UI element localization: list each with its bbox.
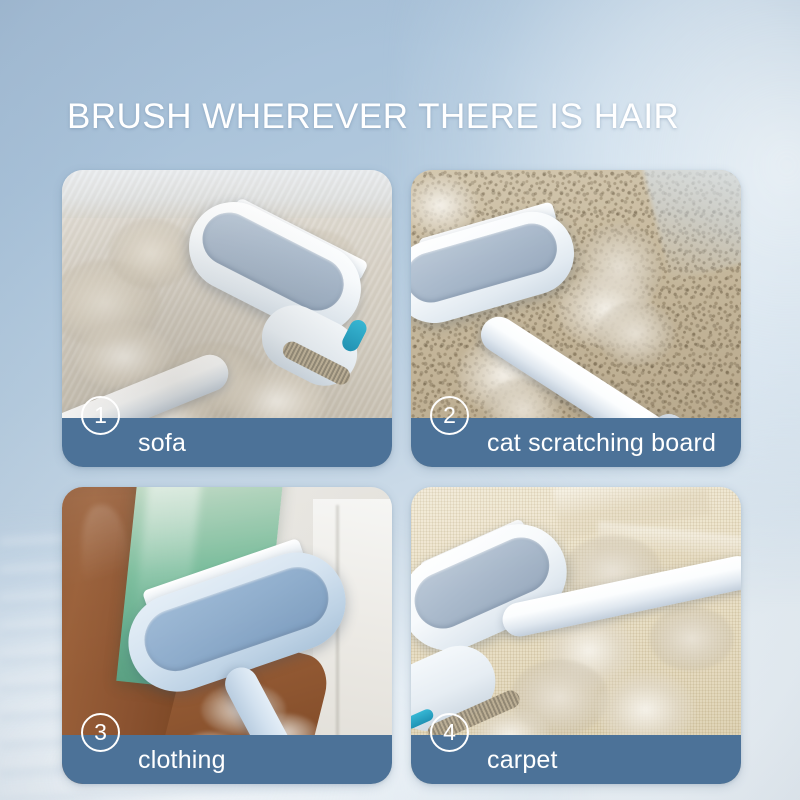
feature-card-clothing[interactable]: clothing 3 <box>62 487 392 784</box>
clothing-window-frame-line <box>336 505 339 766</box>
card-label: carpet <box>411 746 558 774</box>
fur-tuft <box>596 301 675 366</box>
feature-card-cat-scratching-board[interactable]: cat scratching board 2 <box>411 170 741 467</box>
card-number-badge: 1 <box>81 396 120 435</box>
page-title: BRUSH WHEREVER THERE IS HAIR <box>67 96 679 138</box>
feature-card-carpet[interactable]: carpet 4 <box>411 487 741 784</box>
card-label: sofa <box>62 429 186 457</box>
fur-tuft <box>649 606 735 671</box>
card-label: clothing <box>62 746 226 774</box>
feature-card-sofa[interactable]: sofa 1 <box>62 170 392 467</box>
feature-card-grid: sofa 1 cat scratching boar <box>62 170 741 784</box>
card-number-badge: 4 <box>430 713 469 752</box>
card-number-badge: 3 <box>81 713 120 752</box>
card-number-badge: 2 <box>430 396 469 435</box>
